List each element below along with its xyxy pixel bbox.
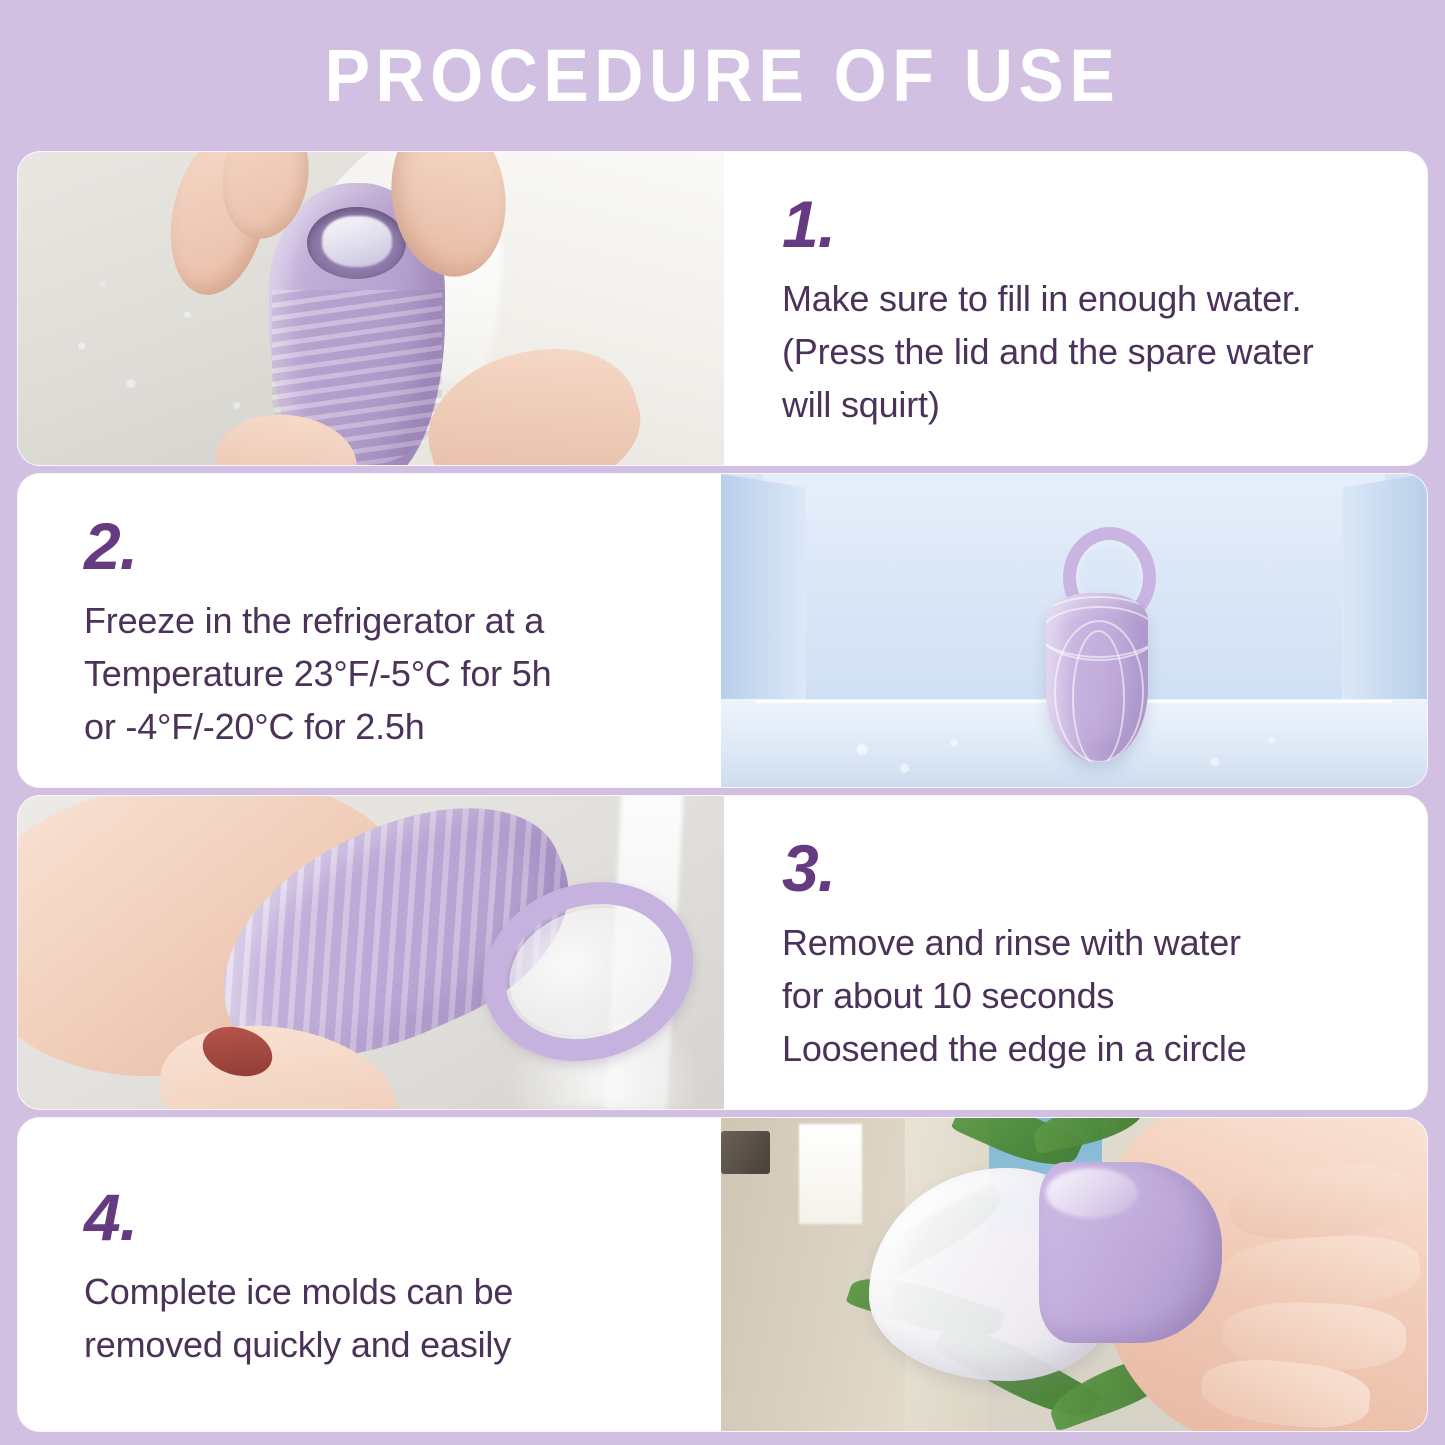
step-4-description: Complete ice molds can be removed quickl… [84,1265,681,1372]
step-2-photo [721,474,1427,787]
step-2-text-panel: 2. Freeze in the refrigerator at a Tempe… [18,474,721,787]
step-3-photo [18,796,724,1109]
step-1-photo [18,152,724,465]
step-2-description: Freeze in the refrigerator at a Temperat… [84,594,681,754]
window-light [799,1124,863,1224]
step-3-number: 3. [782,837,1387,900]
mold-highlight [1046,1168,1138,1218]
step-3-text-panel: 3. Remove and rinse with water for about… [724,796,1427,1109]
steps-list: 1. Make sure to fill in enough water. (P… [18,152,1427,1431]
step-1-text-panel: 1. Make sure to fill in enough water. (P… [724,152,1427,465]
step-row-1: 1. Make sure to fill in enough water. (P… [18,152,1427,465]
step-1-number: 1. [782,193,1387,256]
mold-petal-lines [1046,593,1148,762]
step-4-text-panel: 4. Complete ice molds can be removed qui… [18,1118,721,1431]
step-row-3: 3. Remove and rinse with water for about… [18,796,1427,1109]
infographic-page: PROCEDURE OF USE 1. Make sure to fill in… [0,0,1445,1445]
step-2-number: 2. [84,515,681,578]
step-row-2: 2. Freeze in the refrigerator at a Tempe… [18,474,1427,787]
step-3-description: Remove and rinse with water for about 10… [782,916,1387,1076]
step-row-4: 4. Complete ice molds can be removed qui… [18,1118,1427,1431]
window-latch [721,1131,770,1175]
step-4-photo [721,1118,1427,1431]
step-4-number: 4. [84,1186,681,1249]
step-1-description: Make sure to fill in enough water. (Pres… [782,272,1387,432]
page-title: PROCEDURE OF USE [325,39,1121,113]
silicone-mold [1046,593,1148,762]
title-bar: PROCEDURE OF USE [18,0,1427,152]
